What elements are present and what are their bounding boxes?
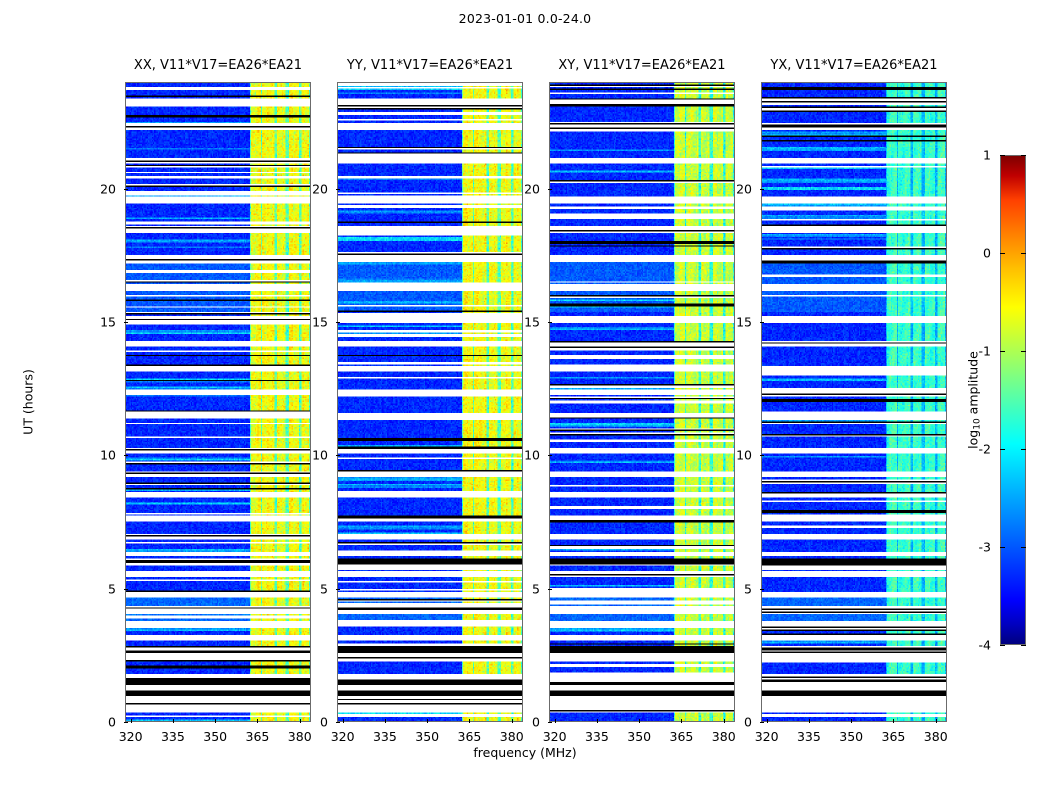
y-tick bbox=[548, 189, 552, 190]
x-tick-label: 380 bbox=[500, 729, 524, 744]
colorbar-tick bbox=[1021, 351, 1026, 352]
y-tick-label: 0 bbox=[532, 715, 540, 730]
x-tick bbox=[131, 719, 132, 723]
y-tick-label: 10 bbox=[312, 448, 328, 463]
x-tick-label: 380 bbox=[288, 729, 312, 744]
y-tick-label: 10 bbox=[100, 448, 116, 463]
x-tick-label: 365 bbox=[670, 729, 694, 744]
y-tick-label: 0 bbox=[108, 715, 116, 730]
colorbar-tick bbox=[1000, 547, 1005, 548]
y-tick bbox=[548, 722, 552, 723]
colorbar-tick bbox=[1000, 253, 1005, 254]
y-tick bbox=[548, 455, 552, 456]
y-tick-label: 10 bbox=[524, 448, 540, 463]
colorbar-label-tail: amplitude bbox=[966, 351, 981, 418]
colorbar-tick-label: -3 bbox=[979, 540, 991, 555]
panel-xx: XX, V11*V17=EA26*EA213203353503653800510… bbox=[125, 82, 311, 722]
x-tick-label: 335 bbox=[373, 729, 397, 744]
x-tick-label: 320 bbox=[119, 729, 143, 744]
y-tick bbox=[760, 589, 764, 590]
x-tick bbox=[385, 719, 386, 723]
colorbar-tick bbox=[1021, 253, 1026, 254]
x-tick bbox=[724, 719, 725, 723]
x-tick bbox=[851, 719, 852, 723]
x-tick bbox=[767, 719, 768, 723]
y-tick bbox=[336, 189, 340, 190]
y-tick bbox=[760, 722, 764, 723]
y-tick bbox=[760, 455, 764, 456]
y-tick-label: 0 bbox=[744, 715, 752, 730]
y-tick-label: 15 bbox=[524, 315, 540, 330]
panel-yy: YY, V11*V17=EA26*EA213203353503653800510… bbox=[337, 82, 523, 722]
y-tick bbox=[124, 322, 128, 323]
y-tick-label: 5 bbox=[320, 581, 328, 596]
y-axis-label: UT (hours) bbox=[21, 369, 36, 435]
colorbar-label: log10 amplitude bbox=[966, 351, 983, 449]
colorbar-tick bbox=[1021, 547, 1026, 548]
y-tick bbox=[124, 722, 128, 723]
x-tick-label: 365 bbox=[458, 729, 482, 744]
y-tick-label: 20 bbox=[312, 181, 328, 196]
panel-xy: XY, V11*V17=EA26*EA213203353503653800510… bbox=[549, 82, 735, 722]
y-tick bbox=[124, 455, 128, 456]
figure-suptitle: 2023-01-01 0.0-24.0 bbox=[0, 11, 1050, 26]
x-tick bbox=[555, 719, 556, 723]
y-tick bbox=[124, 589, 128, 590]
colorbar-tick bbox=[1000, 645, 1005, 646]
colorbar-tick bbox=[1021, 155, 1026, 156]
x-tick bbox=[597, 719, 598, 723]
x-tick-label: 335 bbox=[797, 729, 821, 744]
y-tick bbox=[336, 455, 340, 456]
colorbar[interactable]: -4-3-2-101 bbox=[1000, 155, 1026, 645]
colorbar-tick-label: 1 bbox=[983, 148, 991, 163]
colorbar-label-main: log bbox=[966, 430, 981, 449]
x-tick bbox=[512, 719, 513, 723]
x-tick bbox=[469, 719, 470, 723]
y-tick bbox=[336, 322, 340, 323]
y-tick-label: 20 bbox=[736, 181, 752, 196]
x-tick-label: 350 bbox=[203, 729, 227, 744]
colorbar-tick bbox=[1021, 449, 1026, 450]
x-tick-label: 350 bbox=[627, 729, 651, 744]
colorbar-label-sub: 10 bbox=[973, 418, 983, 429]
y-tick bbox=[336, 722, 340, 723]
colorbar-tick bbox=[1000, 155, 1005, 156]
x-tick-label: 335 bbox=[585, 729, 609, 744]
panel-yx: YX, V11*V17=EA26*EA213203353503653800510… bbox=[761, 82, 947, 722]
x-tick bbox=[427, 719, 428, 723]
x-tick bbox=[639, 719, 640, 723]
x-tick-label: 350 bbox=[415, 729, 439, 744]
x-tick bbox=[215, 719, 216, 723]
y-tick-label: 5 bbox=[744, 581, 752, 596]
x-tick-label: 320 bbox=[331, 729, 355, 744]
y-tick bbox=[760, 189, 764, 190]
y-tick-label: 15 bbox=[312, 315, 328, 330]
colorbar-tick bbox=[1000, 449, 1005, 450]
y-tick bbox=[336, 589, 340, 590]
x-tick-label: 335 bbox=[161, 729, 185, 744]
heatmap-yy[interactable] bbox=[337, 82, 523, 722]
colorbar-tick bbox=[1021, 645, 1026, 646]
x-tick bbox=[300, 719, 301, 723]
x-axis-label: frequency (MHz) bbox=[0, 745, 1050, 760]
x-tick bbox=[936, 719, 937, 723]
x-tick-label: 365 bbox=[246, 729, 270, 744]
x-tick-label: 320 bbox=[543, 729, 567, 744]
colorbar-tick-label: 0 bbox=[983, 246, 991, 261]
x-tick-label: 320 bbox=[755, 729, 779, 744]
x-tick bbox=[681, 719, 682, 723]
x-tick bbox=[893, 719, 894, 723]
x-tick bbox=[173, 719, 174, 723]
y-tick bbox=[548, 322, 552, 323]
x-tick-label: 380 bbox=[712, 729, 736, 744]
x-tick-label: 380 bbox=[924, 729, 948, 744]
y-tick bbox=[548, 589, 552, 590]
y-tick-label: 15 bbox=[100, 315, 116, 330]
x-tick bbox=[343, 719, 344, 723]
panel-title-yx: YX, V11*V17=EA26*EA21 bbox=[721, 58, 987, 73]
x-tick-label: 350 bbox=[839, 729, 863, 744]
y-tick bbox=[760, 322, 764, 323]
heatmap-yx[interactable] bbox=[761, 82, 947, 722]
colorbar-tick-label: -4 bbox=[979, 638, 991, 653]
colorbar-gradient bbox=[1000, 155, 1026, 645]
y-tick bbox=[124, 189, 128, 190]
y-tick-label: 15 bbox=[736, 315, 752, 330]
y-tick-label: 10 bbox=[736, 448, 752, 463]
colorbar-tick bbox=[1000, 351, 1005, 352]
x-tick bbox=[257, 719, 258, 723]
x-tick bbox=[809, 719, 810, 723]
y-tick-label: 20 bbox=[524, 181, 540, 196]
heatmap-xy[interactable] bbox=[549, 82, 735, 722]
y-tick-label: 5 bbox=[108, 581, 116, 596]
y-tick-label: 0 bbox=[320, 715, 328, 730]
y-tick-label: 5 bbox=[532, 581, 540, 596]
x-tick-label: 365 bbox=[882, 729, 906, 744]
y-tick-label: 20 bbox=[100, 181, 116, 196]
figure-canvas: 2023-01-01 0.0-24.0 XX, V11*V17=EA26*EA2… bbox=[0, 0, 1050, 800]
heatmap-xx[interactable] bbox=[125, 82, 311, 722]
